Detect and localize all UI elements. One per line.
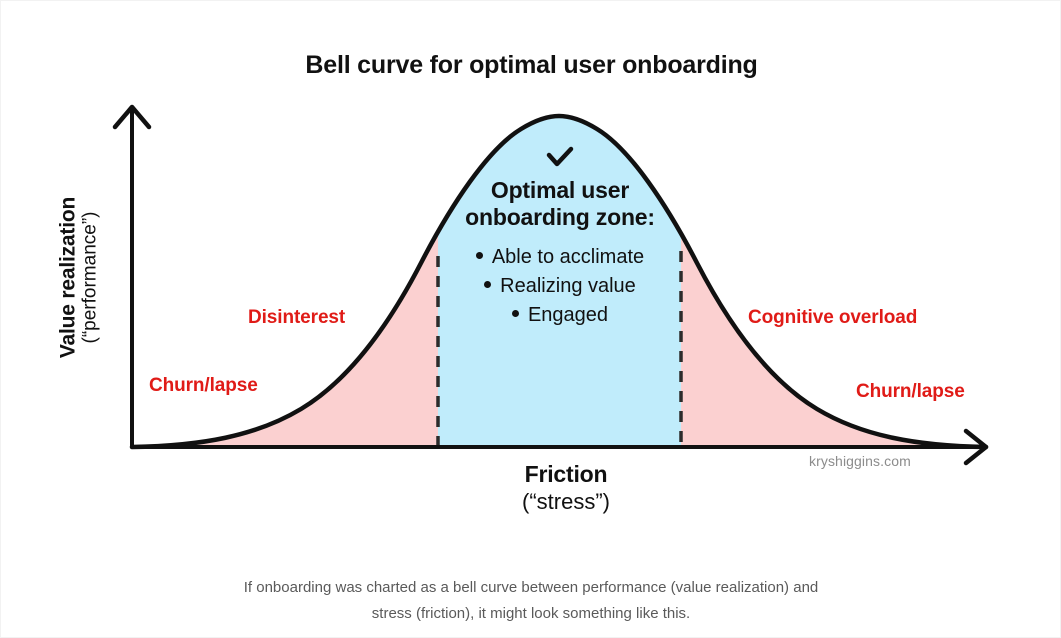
x-axis-label-sub: (“stress”) (421, 490, 711, 515)
list-item-label: Able to acclimate (492, 246, 644, 268)
annotation-churn-lapse-right: Churn/lapse (856, 381, 965, 403)
y-axis-label: Value realization (“performance”) (58, 137, 101, 417)
annotation-churn-lapse-left: Churn/lapse (149, 375, 258, 397)
list-item: Engaged (439, 301, 681, 330)
caption-line-2: stress (friction), it might look somethi… (151, 601, 911, 627)
watermark-attribution: kryshiggins.com (809, 453, 911, 469)
list-item-label: Realizing value (500, 275, 636, 297)
optimal-zone-content: Optimal user onboarding zone: Able to ac… (439, 141, 681, 330)
annotation-cognitive-overload: Cognitive overload (748, 307, 917, 329)
optimal-zone-heading: Optimal user onboarding zone: (439, 177, 681, 231)
list-item: Realizing value (439, 272, 681, 301)
y-axis-label-main: Value realization (58, 137, 80, 417)
bullet-dot-icon (484, 281, 491, 288)
x-axis-label-main: Friction (421, 462, 711, 488)
caption-line-1: If onboarding was charted as a bell curv… (151, 575, 911, 601)
figure-caption: If onboarding was charted as a bell curv… (151, 575, 911, 628)
figure-container: Bell curve for optimal user onboarding (0, 0, 1061, 638)
y-axis-label-sub: (“performance”) (81, 137, 101, 417)
list-item: Able to acclimate (439, 243, 681, 272)
x-axis-label: Friction (“stress”) (421, 462, 711, 514)
bullet-dot-icon (512, 310, 519, 317)
bullet-dot-icon (476, 252, 483, 259)
optimal-zone-bullet-list: Able to acclimate Realizing value Engage… (439, 243, 681, 330)
y-axis (115, 107, 149, 447)
list-item-label: Engaged (528, 304, 608, 326)
bell-curve-chart: Value realization (“performance”) Fricti… (1, 1, 1061, 546)
annotation-disinterest: Disinterest (248, 307, 345, 329)
checkmark-icon (439, 141, 681, 171)
